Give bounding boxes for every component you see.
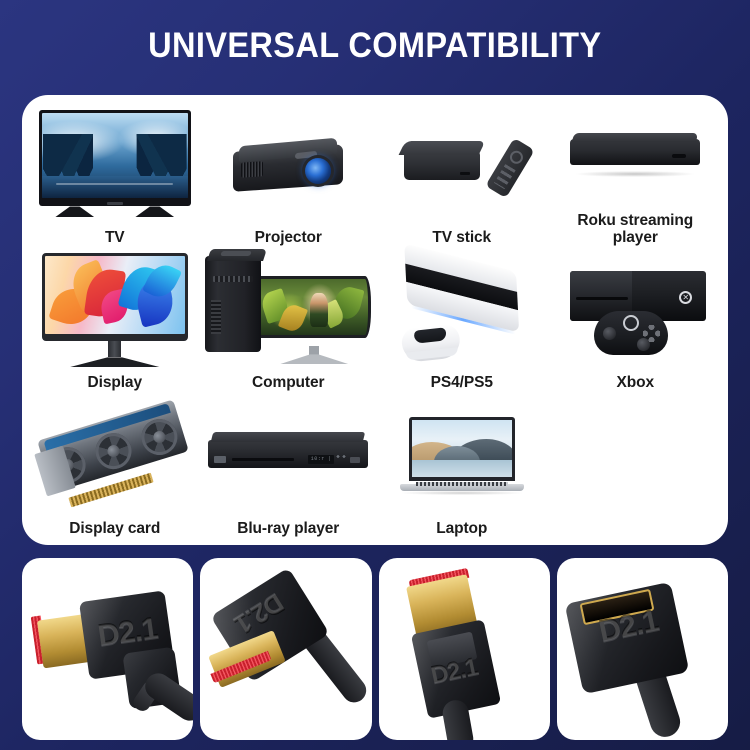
device-item-computer: Computer (202, 250, 376, 395)
displayport-connector-icon: D2.1 (200, 558, 371, 740)
desktop-computer-icon (202, 250, 376, 370)
device-row: Display (28, 250, 722, 395)
device-item-laptop: Laptop (375, 396, 549, 541)
projector-icon (202, 105, 376, 225)
device-grid: TV Projector (28, 105, 722, 541)
device-item-roku: Roku streaming player (549, 105, 723, 250)
device-item-projector: Projector (202, 105, 376, 250)
header: UNIVERSAL COMPATIBILITY (0, 0, 750, 92)
device-item-display: Display (28, 250, 202, 395)
playstation-console-icon (375, 250, 549, 370)
device-item-tv: TV (28, 105, 202, 250)
monitor-icon (28, 250, 202, 370)
device-label: Xbox (617, 374, 655, 391)
device-label: TV (105, 229, 125, 246)
bluray-player-icon: 10:r | (202, 396, 376, 516)
device-label: Blu-ray player (237, 520, 339, 537)
device-item-display-card: Display card (28, 396, 202, 541)
product-photo-panel-right-angle-down[interactable]: D2.1 (200, 558, 371, 740)
device-item-tv-stick: TV stick (375, 105, 549, 250)
device-label: Display (88, 374, 142, 391)
device-label: TV stick (432, 229, 491, 246)
product-photo-strip: D2.1 D2.1 D2.1 D2.1 (22, 558, 728, 740)
device-label: Computer (252, 374, 324, 391)
bluray-display-text: 10:r | (311, 456, 332, 462)
laptop-icon (375, 396, 549, 516)
device-label: PS4/PS5 (431, 374, 493, 391)
roku-streaming-player-icon (549, 105, 723, 208)
product-photo-panel-right-angle-left[interactable]: D2.1 (22, 558, 193, 740)
graphics-card-icon (28, 396, 202, 516)
device-label: Laptop (436, 520, 487, 537)
displayport-socket-icon: D2.1 (557, 558, 728, 740)
device-row: TV Projector (28, 105, 722, 250)
device-row: Display card 10:r | Blu- (28, 396, 722, 541)
device-label: Display card (69, 520, 160, 537)
device-label: Roku streaming player (560, 212, 710, 247)
tv-stick-icon (375, 105, 549, 225)
device-item-xbox: Xbox (549, 250, 723, 395)
device-item-bluray: 10:r | Blu-ray player (202, 396, 376, 541)
product-photo-panel-female-socket[interactable]: D2.1 (557, 558, 728, 740)
compatibility-card: TV Projector (22, 95, 728, 545)
television-icon (28, 105, 202, 225)
universal-compatibility-infographic: { "header": { "title": "UNIVERSAL COMPAT… (0, 0, 750, 750)
device-item-playstation: PS4/PS5 (375, 250, 549, 395)
device-label: Projector (255, 229, 322, 246)
page-title: UNIVERSAL COMPATIBILITY (148, 26, 601, 66)
xbox-console-icon (549, 250, 723, 370)
displayport-connector-icon: D2.1 (22, 558, 193, 740)
displayport-connector-icon: D2.1 (379, 558, 550, 740)
product-photo-panel-straight-male[interactable]: D2.1 (379, 558, 550, 740)
